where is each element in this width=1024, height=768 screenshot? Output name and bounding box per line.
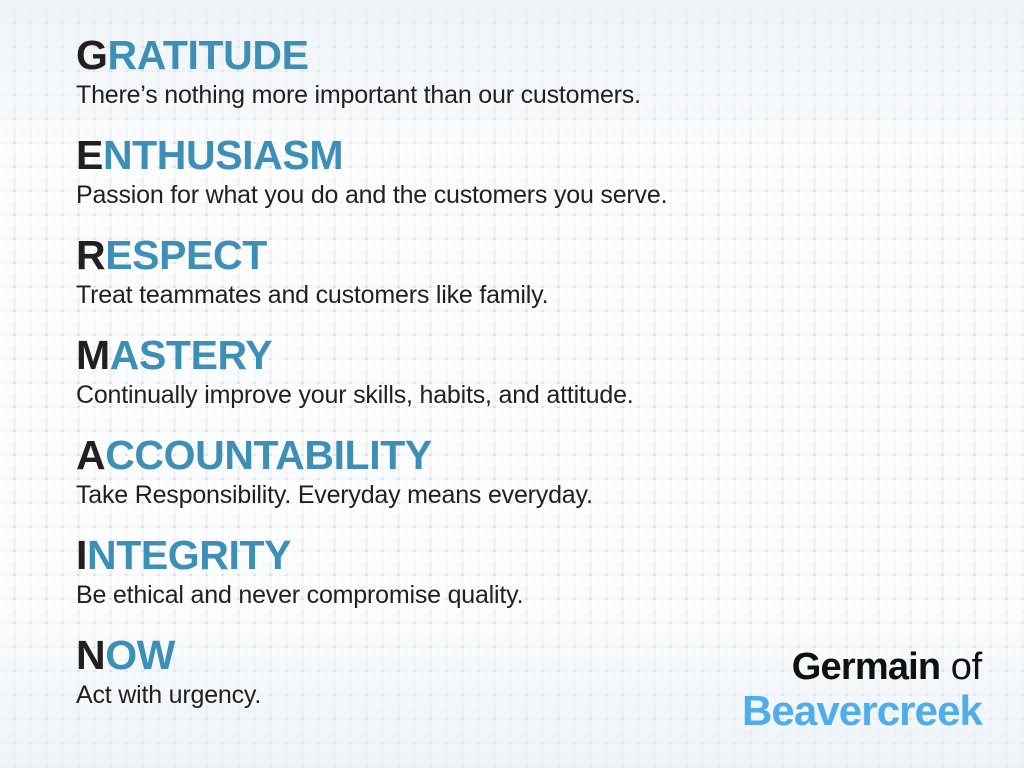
value-description-respect: Treat teammates and customers like famil… — [76, 278, 976, 312]
logo-location-name: Beavercreek — [742, 688, 982, 734]
value-heading-gratitude: GRATITUDE — [76, 32, 976, 78]
logo-connector-word: of — [940, 646, 982, 688]
value-block-mastery: MASTERY Continually improve your skills,… — [76, 332, 976, 432]
value-block-gratitude: GRATITUDE There’s nothing more important… — [76, 32, 976, 132]
value-heading-remainder: NTEGRITY — [87, 532, 291, 578]
value-heading-mastery: MASTERY — [76, 332, 976, 378]
value-initial-letter: E — [76, 132, 103, 178]
value-heading-remainder: CCOUNTABILITY — [105, 432, 432, 478]
value-initial-letter: N — [76, 632, 105, 678]
value-description-accountability: Take Responsibility. Everyday means ever… — [76, 478, 976, 512]
value-heading-remainder: ESPECT — [105, 232, 267, 278]
value-initial-letter: I — [76, 532, 87, 578]
value-heading-remainder: NTHUSIASM — [103, 132, 343, 178]
value-initial-letter: R — [76, 232, 105, 278]
value-block-respect: RESPECT Treat teammates and customers li… — [76, 232, 976, 332]
value-initial-letter: A — [76, 432, 105, 478]
value-description-gratitude: There’s nothing more important than our … — [76, 78, 976, 112]
values-poster: GRATITUDE There’s nothing more important… — [0, 0, 1024, 768]
value-heading-remainder: OW — [105, 632, 175, 678]
dealership-logo: Germain of Beavercreek — [742, 646, 982, 734]
value-heading-remainder: RATITUDE — [108, 32, 309, 78]
value-heading-accountability: ACCOUNTABILITY — [76, 432, 976, 478]
logo-brand-name: Germain — [792, 646, 941, 688]
value-heading-enthusiasm: ENTHUSIASM — [76, 132, 976, 178]
value-description-enthusiasm: Passion for what you do and the customer… — [76, 178, 976, 212]
logo-primary-line: Germain of — [742, 646, 982, 688]
value-block-accountability: ACCOUNTABILITY Take Responsibility. Ever… — [76, 432, 976, 532]
value-initial-letter: G — [76, 32, 108, 78]
value-description-mastery: Continually improve your skills, habits,… — [76, 378, 976, 412]
value-heading-remainder: ASTERY — [110, 332, 272, 378]
value-description-integrity: Be ethical and never compromise quality. — [76, 578, 976, 612]
value-heading-respect: RESPECT — [76, 232, 976, 278]
core-values-list: GRATITUDE There’s nothing more important… — [76, 32, 976, 732]
value-initial-letter: M — [76, 332, 110, 378]
value-block-integrity: INTEGRITY Be ethical and never compromis… — [76, 532, 976, 632]
value-heading-integrity: INTEGRITY — [76, 532, 976, 578]
value-block-enthusiasm: ENTHUSIASM Passion for what you do and t… — [76, 132, 976, 232]
